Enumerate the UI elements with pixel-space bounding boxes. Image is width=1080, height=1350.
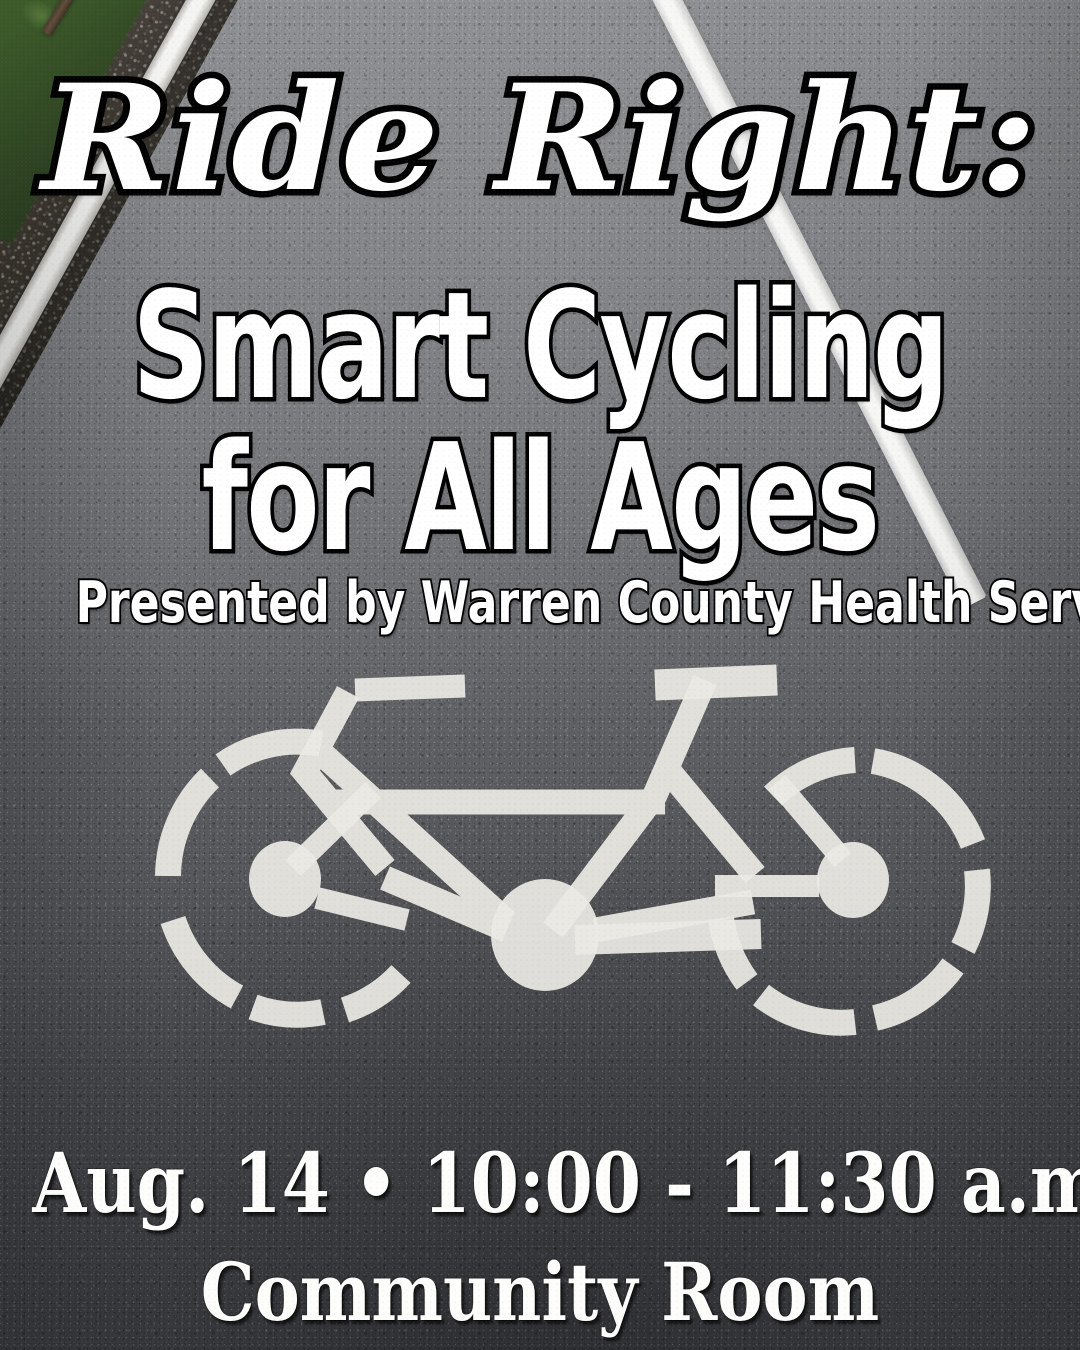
event-location: Community Room — [32, 1252, 1047, 1332]
presented-by-label: Presented by Warren County Health Servic… — [76, 575, 1005, 632]
subtitle-line-2: for All Ages — [108, 424, 972, 572]
page-title: Ride Right: — [0, 66, 1080, 212]
event-datetime: Aug. 14 • 10:00 - 11:30 a.m. — [32, 1143, 1047, 1225]
subtitle-line-1: Smart Cycling — [108, 272, 972, 420]
poster-canvas: Ride Right: Smart Cycling for All Ages P… — [0, 0, 1080, 1350]
